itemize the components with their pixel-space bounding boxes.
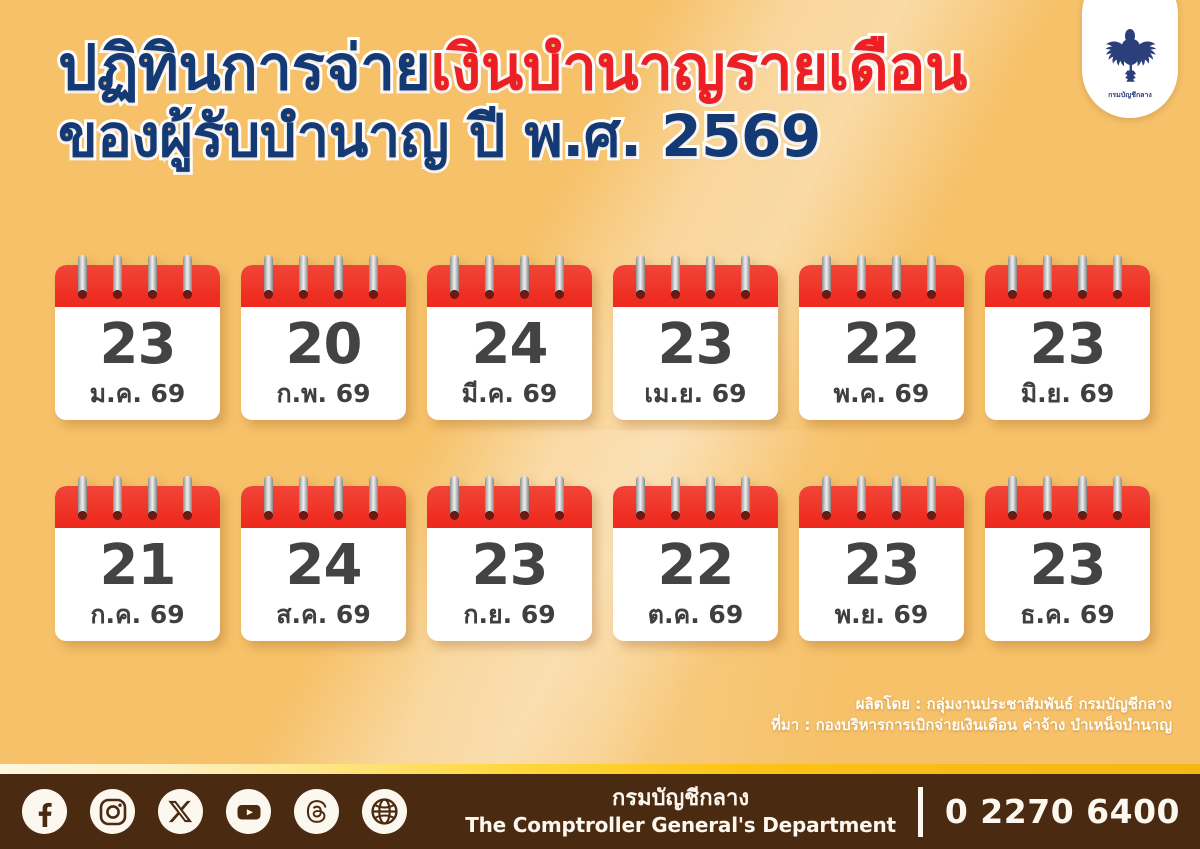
- title-line1-navy: ปฏิทินการจ่าย: [58, 31, 430, 104]
- calendar-card: 23พ.ย. 69: [799, 476, 964, 641]
- calendar-card: 21ก.ค. 69: [55, 476, 220, 641]
- calendar-body: 23มิ.ย. 69: [985, 265, 1150, 420]
- website-globe-icon[interactable]: [362, 789, 407, 834]
- footer-organization: กรมบัญชีกลาง The Comptroller General's D…: [465, 786, 1200, 837]
- contact-phone[interactable]: 0 2270 6400: [945, 792, 1180, 831]
- credit-source: ที่มา : กองบริหารการเบิกจ่ายเงินเดือน ค่…: [771, 715, 1172, 736]
- calendar-header: [613, 265, 778, 307]
- calendar-header: [241, 486, 406, 528]
- calendar-body: 21ก.ค. 69: [55, 486, 220, 641]
- credit-producer: ผลิตโดย : กลุ่มงานประชาสัมพันธ์ กรมบัญชี…: [771, 694, 1172, 715]
- calendar-header: [55, 486, 220, 528]
- calendar-face: 23เม.ย. 69: [613, 307, 778, 420]
- calendar-day: 22: [658, 538, 734, 594]
- x-twitter-icon[interactable]: [158, 789, 203, 834]
- calendar-face: 24ส.ค. 69: [241, 528, 406, 641]
- calendar-header: [427, 486, 592, 528]
- logo-caption: กรมบัญชีกลาง: [1108, 91, 1152, 99]
- calendar-day: 23: [1030, 317, 1106, 373]
- calendar-month: มิ.ย. 69: [1021, 380, 1115, 408]
- calendar-face: 24มี.ค. 69: [427, 307, 592, 420]
- calendar-header: [799, 486, 964, 528]
- org-name-thai: กรมบัญชีกลาง: [465, 786, 896, 813]
- calendar-month: ก.ย. 69: [463, 601, 555, 629]
- calendar-month: มี.ค. 69: [462, 380, 558, 408]
- calendar-card: 23ก.ย. 69: [427, 476, 592, 641]
- calendar-month: พ.ค. 69: [834, 380, 930, 408]
- calendar-day: 23: [472, 538, 548, 594]
- footer-divider: [918, 787, 923, 837]
- calendar-face: 23มิ.ย. 69: [985, 307, 1150, 420]
- calendar-header: [613, 486, 778, 528]
- calendar-card: 22ต.ค. 69: [613, 476, 778, 641]
- calendar-card: 20ก.พ. 69: [241, 255, 406, 420]
- calendar-day: 24: [472, 317, 548, 373]
- calendar-day: 20: [286, 317, 362, 373]
- calendar-body: 22พ.ค. 69: [799, 265, 964, 420]
- calendar-day: 23: [844, 538, 920, 594]
- calendar-face: 23ก.ย. 69: [427, 528, 592, 641]
- title-line2: ของผู้รับบำนาญ ปี พ.ศ. 2569: [58, 102, 821, 170]
- calendar-month: ก.ค. 69: [90, 601, 184, 629]
- calendar-day: 22: [844, 317, 920, 373]
- youtube-icon[interactable]: [226, 789, 271, 834]
- calendar-month: ม.ค. 69: [90, 380, 186, 408]
- calendar-body: 23พ.ย. 69: [799, 486, 964, 641]
- calendar-header: [799, 265, 964, 307]
- calendar-month: ก.พ. 69: [276, 380, 370, 408]
- calendar-month: พ.ย. 69: [835, 601, 929, 629]
- calendar-card: 23ธ.ค. 69: [985, 476, 1150, 641]
- page-title: ปฏิทินการจ่ายเงินบำนาญรายเดือน ของผู้รับ…: [58, 36, 1078, 167]
- calendar-card: 23มิ.ย. 69: [985, 255, 1150, 420]
- calendar-body: 23ธ.ค. 69: [985, 486, 1150, 641]
- calendar-body: 23เม.ย. 69: [613, 265, 778, 420]
- threads-icon[interactable]: [294, 789, 339, 834]
- calendar-card: 23เม.ย. 69: [613, 255, 778, 420]
- calendar-card: 24ส.ค. 69: [241, 476, 406, 641]
- social-links: [22, 789, 407, 834]
- calendar-header: [241, 265, 406, 307]
- calendar-day: 23: [658, 317, 734, 373]
- calendar-face: 23ธ.ค. 69: [985, 528, 1150, 641]
- calendar-card: 23ม.ค. 69: [55, 255, 220, 420]
- calendar-grid: 23ม.ค. 6920ก.พ. 6924มี.ค. 6923เม.ย. 6922…: [55, 255, 1151, 641]
- calendar-header: [985, 265, 1150, 307]
- calendar-month: ต.ค. 69: [648, 601, 743, 629]
- calendar-month: ส.ค. 69: [276, 601, 370, 629]
- calendar-month: ธ.ค. 69: [1020, 601, 1114, 629]
- title-line1-red: เงินบำนาญรายเดือน: [430, 31, 967, 104]
- calendar-face: 21ก.ค. 69: [55, 528, 220, 641]
- infographic-poster: กรมบัญชีกลาง ปฏิทินการจ่ายเงินบำนาญรายเด…: [0, 0, 1200, 849]
- calendar-header: [985, 486, 1150, 528]
- footer-bar: กรมบัญชีกลาง The Comptroller General's D…: [0, 774, 1200, 849]
- calendar-day: 23: [100, 317, 176, 373]
- calendar-face: 22ต.ค. 69: [613, 528, 778, 641]
- calendar-card: 24มี.ค. 69: [427, 255, 592, 420]
- garuda-emblem-icon: กรมบัญชีกลาง: [1093, 22, 1167, 102]
- calendar-face: 23พ.ย. 69: [799, 528, 964, 641]
- calendar-body: 20ก.พ. 69: [241, 265, 406, 420]
- calendar-body: 23ม.ค. 69: [55, 265, 220, 420]
- calendar-card: 22พ.ค. 69: [799, 255, 964, 420]
- calendar-day: 24: [286, 538, 362, 594]
- org-name-english: The Comptroller General's Department: [465, 813, 896, 837]
- calendar-month: เม.ย. 69: [644, 380, 746, 408]
- agency-logo-tab: กรมบัญชีกลาง: [1082, 0, 1178, 118]
- calendar-body: 24มี.ค. 69: [427, 265, 592, 420]
- calendar-header: [427, 265, 592, 307]
- calendar-body: 23ก.ย. 69: [427, 486, 592, 641]
- credits: ผลิตโดย : กลุ่มงานประชาสัมพันธ์ กรมบัญชี…: [771, 694, 1172, 737]
- calendar-day: 23: [1030, 538, 1106, 594]
- facebook-icon[interactable]: [22, 789, 67, 834]
- calendar-face: 22พ.ค. 69: [799, 307, 964, 420]
- calendar-day: 21: [100, 538, 176, 594]
- calendar-body: 22ต.ค. 69: [613, 486, 778, 641]
- calendar-body: 24ส.ค. 69: [241, 486, 406, 641]
- calendar-face: 23ม.ค. 69: [55, 307, 220, 420]
- calendar-face: 20ก.พ. 69: [241, 307, 406, 420]
- calendar-header: [55, 265, 220, 307]
- instagram-icon[interactable]: [90, 789, 135, 834]
- gold-divider: [0, 764, 1200, 774]
